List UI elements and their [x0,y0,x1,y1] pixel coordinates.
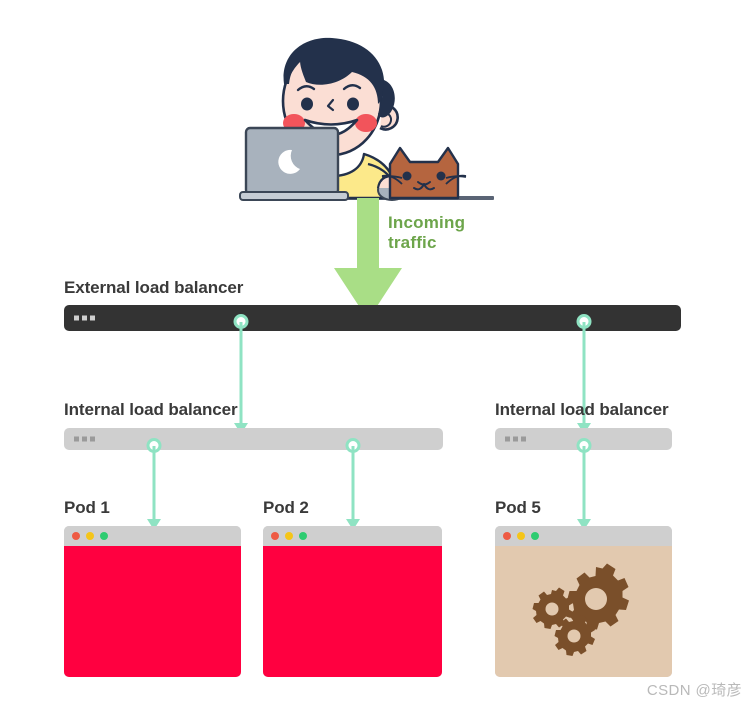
window-close-dot-icon [72,532,80,540]
pod-1-body [64,546,241,677]
gears-icon [524,559,644,664]
connector-internal-1-to-pod-2 [345,438,360,530]
window-dots-icon [74,437,95,442]
connector-stem [239,322,242,425]
window-dots-icon [505,437,526,442]
pod-2-heading: Pod 2 [263,498,309,518]
person-at-laptop-with-cat-illustration [232,28,500,213]
external-load-balancer-heading: External load balancer [64,278,243,298]
pod-5-body [495,546,672,677]
pod-2-body [263,546,442,677]
window-close-dot-icon [271,532,279,540]
connector-internal-2-to-pod-5 [576,438,591,530]
pod-2-titlebar [263,526,442,546]
internal-load-balancer-1-heading: Internal load balancer [64,400,238,420]
connector-stem [152,446,155,521]
internal-load-balancer-1-bar[interactable] [64,428,443,450]
connector-stem [351,446,354,521]
connector-stem [582,446,585,521]
incoming-traffic-line2: traffic [388,233,437,252]
pod-5-titlebar [495,526,672,546]
incoming-traffic-label: Incoming traffic [388,213,508,253]
window-minimize-dot-icon [285,532,293,540]
pod-1-card[interactable] [64,526,241,677]
window-maximize-dot-icon [100,532,108,540]
pod-2-card[interactable] [263,526,442,677]
pod-5-card[interactable] [495,526,672,677]
window-minimize-dot-icon [86,532,94,540]
window-minimize-dot-icon [517,532,525,540]
pod-5-heading: Pod 5 [495,498,541,518]
watermark: CSDN @琦彦 [647,679,742,700]
pod-1-heading: Pod 1 [64,498,110,518]
connector-internal-1-to-pod-1 [146,438,161,530]
incoming-traffic-line1: Incoming [388,213,465,232]
window-close-dot-icon [503,532,511,540]
diagram-canvas: Incoming traffic External load balancer … [0,0,756,712]
window-dots-icon [74,316,95,321]
window-maximize-dot-icon [531,532,539,540]
window-maximize-dot-icon [299,532,307,540]
pod-1-titlebar [64,526,241,546]
internal-load-balancer-2-heading: Internal load balancer [495,400,669,420]
